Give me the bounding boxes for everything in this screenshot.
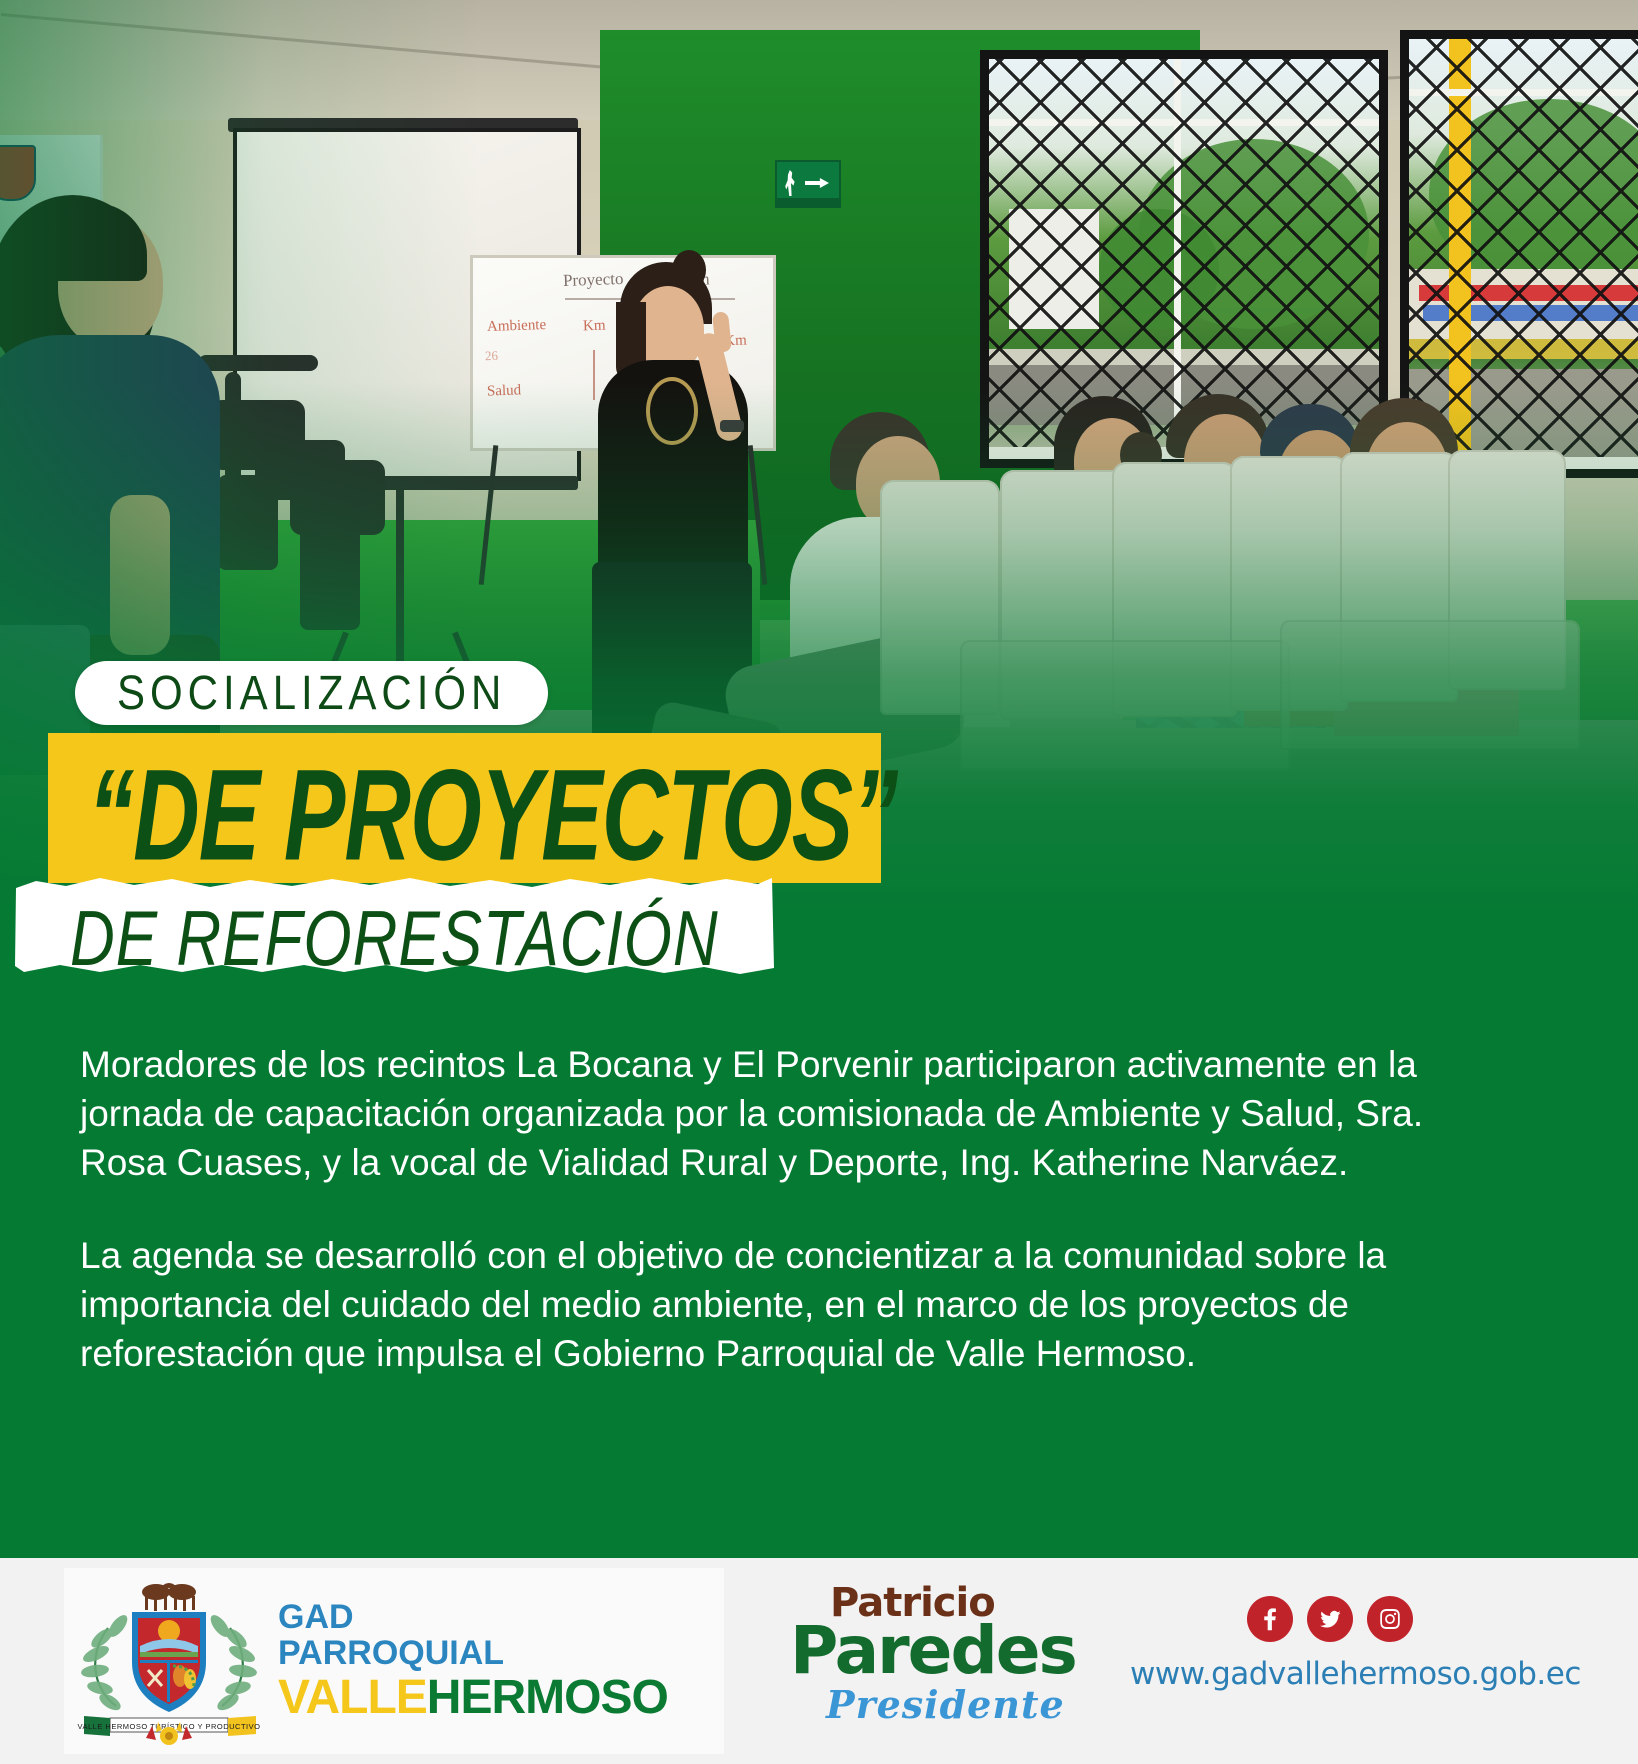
facebook-icon[interactable] (1247, 1596, 1293, 1642)
gad-line-1: GAD (278, 1600, 668, 1634)
title-main: “DE PROYECTOS” (88, 742, 897, 891)
title-kicker-pill: SOCIALIZACIÓN (75, 661, 548, 725)
paragraph-1: Moradores de los recintos La Bocana y El… (80, 1040, 1480, 1187)
president-role: Presidente (826, 1682, 1065, 1727)
paragraph-2: La agenda se desarrolló con el objetivo … (80, 1231, 1480, 1378)
twitter-icon[interactable] (1307, 1596, 1353, 1642)
title-sub: DE REFORESTACIÓN (70, 895, 719, 984)
website-url[interactable]: www.gadvallehermoso.gob.ec (1130, 1656, 1530, 1692)
president-logo: Patricio Paredes Presidente (790, 1578, 1050, 1743)
instagram-icon[interactable] (1367, 1596, 1413, 1642)
social-media-poster: HERMOSO GAD PARROQUIAL RODUCTIVID Proyec… (0, 0, 1638, 1764)
coat-of-arms-icon: VALLE HERMOSO TURÍSTICO Y PRODUCTIVO (74, 1576, 264, 1746)
gad-valle: VALLE (278, 1671, 427, 1724)
president-last-name: Paredes (790, 1612, 1076, 1689)
gad-logo-lockup: VALLE HERMOSO TURÍSTICO Y PRODUCTIVO GAD… (64, 1568, 724, 1754)
body-copy: Moradores de los recintos La Bocana y El… (80, 1040, 1480, 1422)
gad-hermoso: HERMOSO (427, 1671, 668, 1724)
title-main-band: “DE PROYECTOS” (48, 733, 881, 883)
title-kicker: SOCIALIZACIÓN (117, 665, 506, 720)
footer-bar: VALLE HERMOSO TURÍSTICO Y PRODUCTIVO GAD… (0, 1558, 1638, 1764)
social-icons[interactable] (1130, 1596, 1530, 1642)
social-block: www.gadvallehermoso.gob.ec (1130, 1596, 1530, 1692)
title-block: SOCIALIZACIÓN “DE PROYECTOS” DE REFOREST… (0, 0, 1638, 1060)
gad-line-2: PARROQUIAL (278, 1636, 668, 1670)
